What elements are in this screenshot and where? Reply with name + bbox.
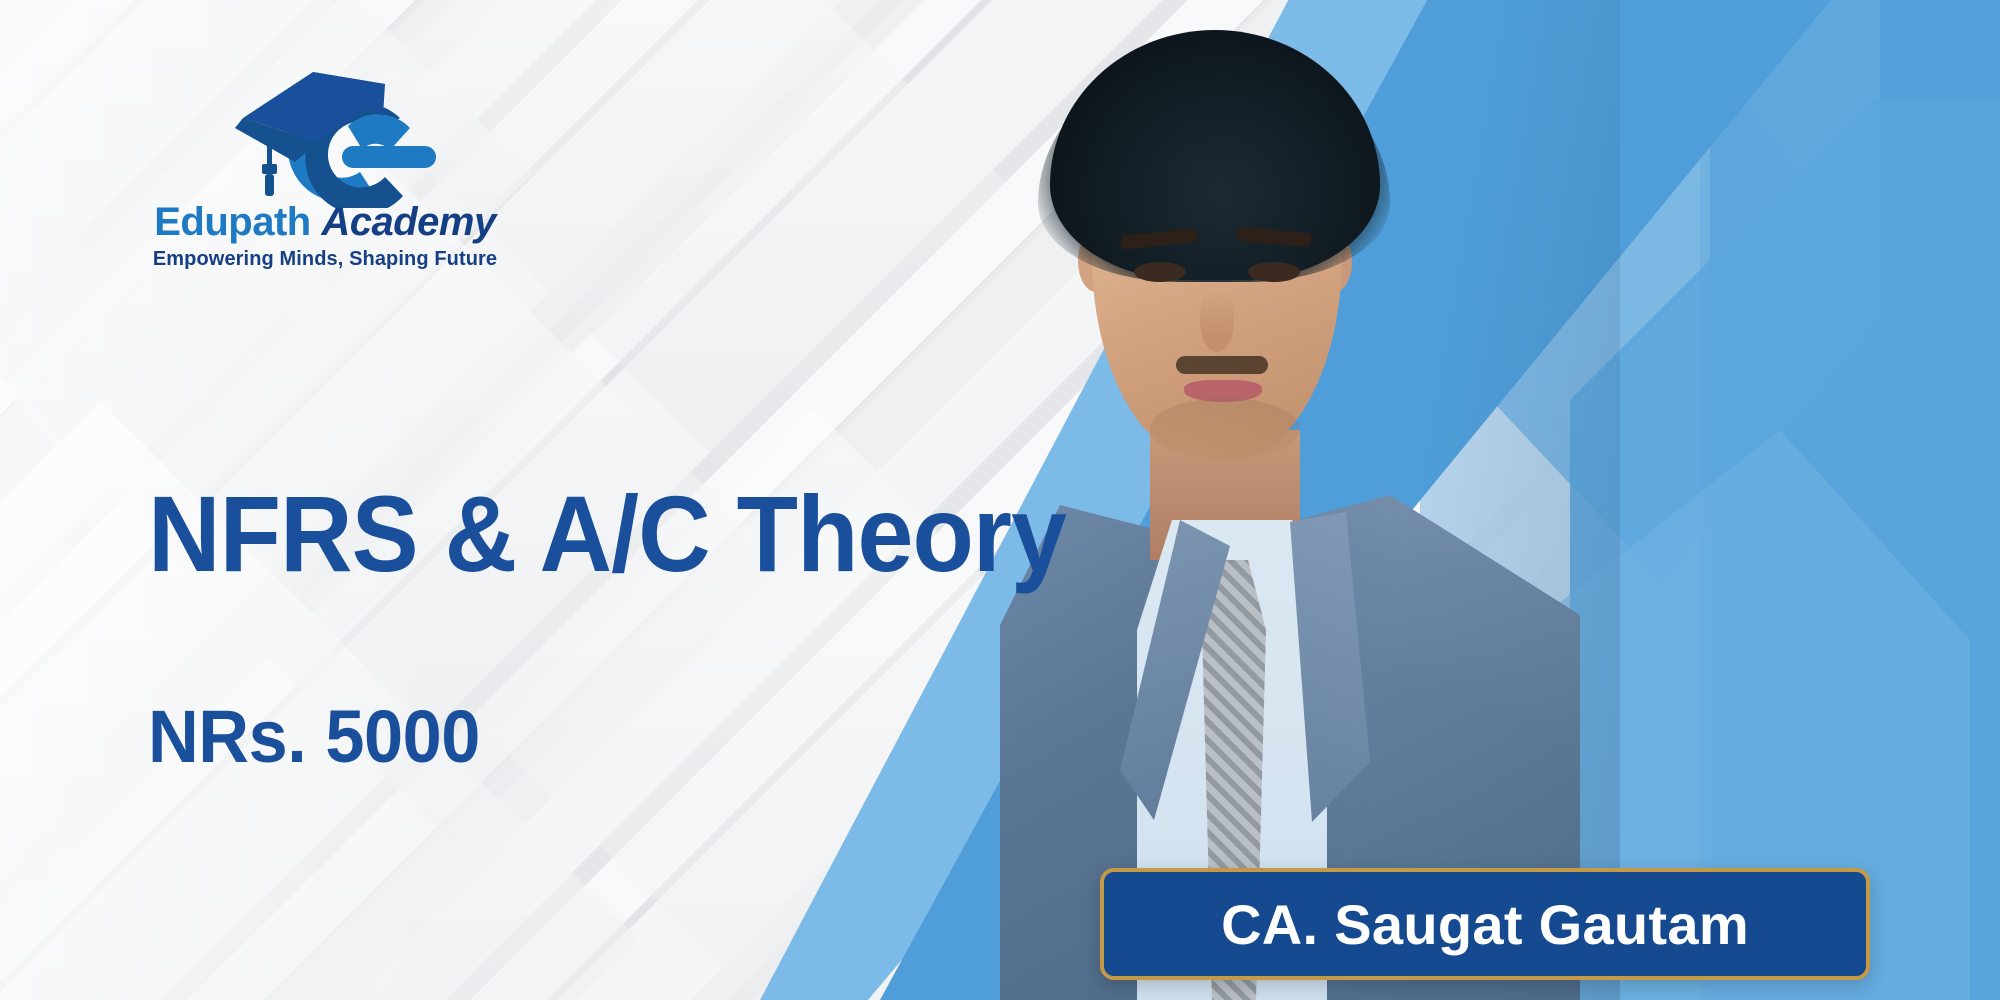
course-price: NRs. 5000	[148, 700, 480, 774]
instructor-name: CA. Saugat Gautam	[1221, 892, 1749, 957]
hair	[1050, 30, 1380, 280]
eye-right	[1248, 262, 1300, 282]
course-title: NFRS & A/C Theory	[148, 480, 1066, 588]
instructor-name-badge: CA. Saugat Gautam	[1100, 868, 1870, 980]
moustache	[1176, 356, 1268, 374]
brand-wordmark: Edupath Academy	[145, 200, 505, 245]
brand-name-part1: Edupath	[154, 200, 310, 244]
chin	[1150, 398, 1300, 460]
graduation-cap-e-monogram-icon	[145, 58, 505, 208]
brand-name-part2: Academy	[321, 200, 495, 244]
brand-tagline: Empowering Minds, Shaping Future	[145, 248, 505, 271]
course-promo-banner: Edupath Academy Empowering Minds, Shapin…	[0, 0, 2000, 1000]
instructor-portrait	[1000, 0, 1620, 1000]
nose	[1200, 290, 1234, 352]
eye-left	[1134, 262, 1186, 282]
brand-logo[interactable]: Edupath Academy Empowering Minds, Shapin…	[145, 58, 505, 283]
